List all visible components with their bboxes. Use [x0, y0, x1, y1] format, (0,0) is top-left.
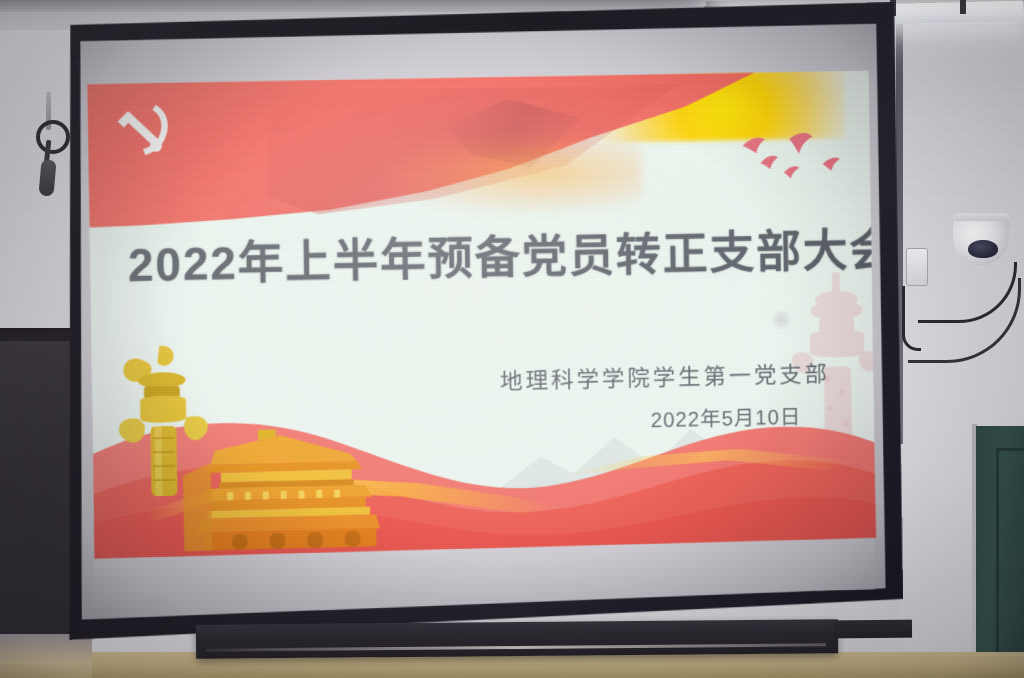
light-bracket-secondary: [960, 0, 966, 14]
tiananmen-gate-icon: [180, 425, 380, 551]
floor-left-strip: [0, 634, 92, 678]
projected-slide: 2022年上半年预备党员转正支部大会 地理科学学院学生第一党支部 2022年5月…: [87, 71, 876, 559]
classroom-photo-scene: 2022年上半年预备党员转正支部大会 地理科学学院学生第一党支部 2022年5月…: [0, 0, 1024, 678]
camera-wall-mount: [906, 248, 928, 286]
slide-title: 2022年上半年预备党员转正支部大会: [127, 215, 845, 295]
blackboard-ledge: [196, 619, 838, 659]
camera-lens-icon: [968, 240, 998, 258]
banner-warm-glow: [386, 132, 642, 216]
blackboard-ledge-right: [834, 620, 912, 639]
projection-screen: 2022年上半年预备党员转正支部大会 地理科学学院学生第一党支部 2022年5月…: [60, 2, 903, 640]
flying-doves-icon: [739, 128, 866, 203]
camera-cable-left: [902, 286, 921, 351]
cpc-hammer-sickle-emblem-icon: [111, 101, 178, 164]
door-panel-inset: [996, 448, 1024, 661]
